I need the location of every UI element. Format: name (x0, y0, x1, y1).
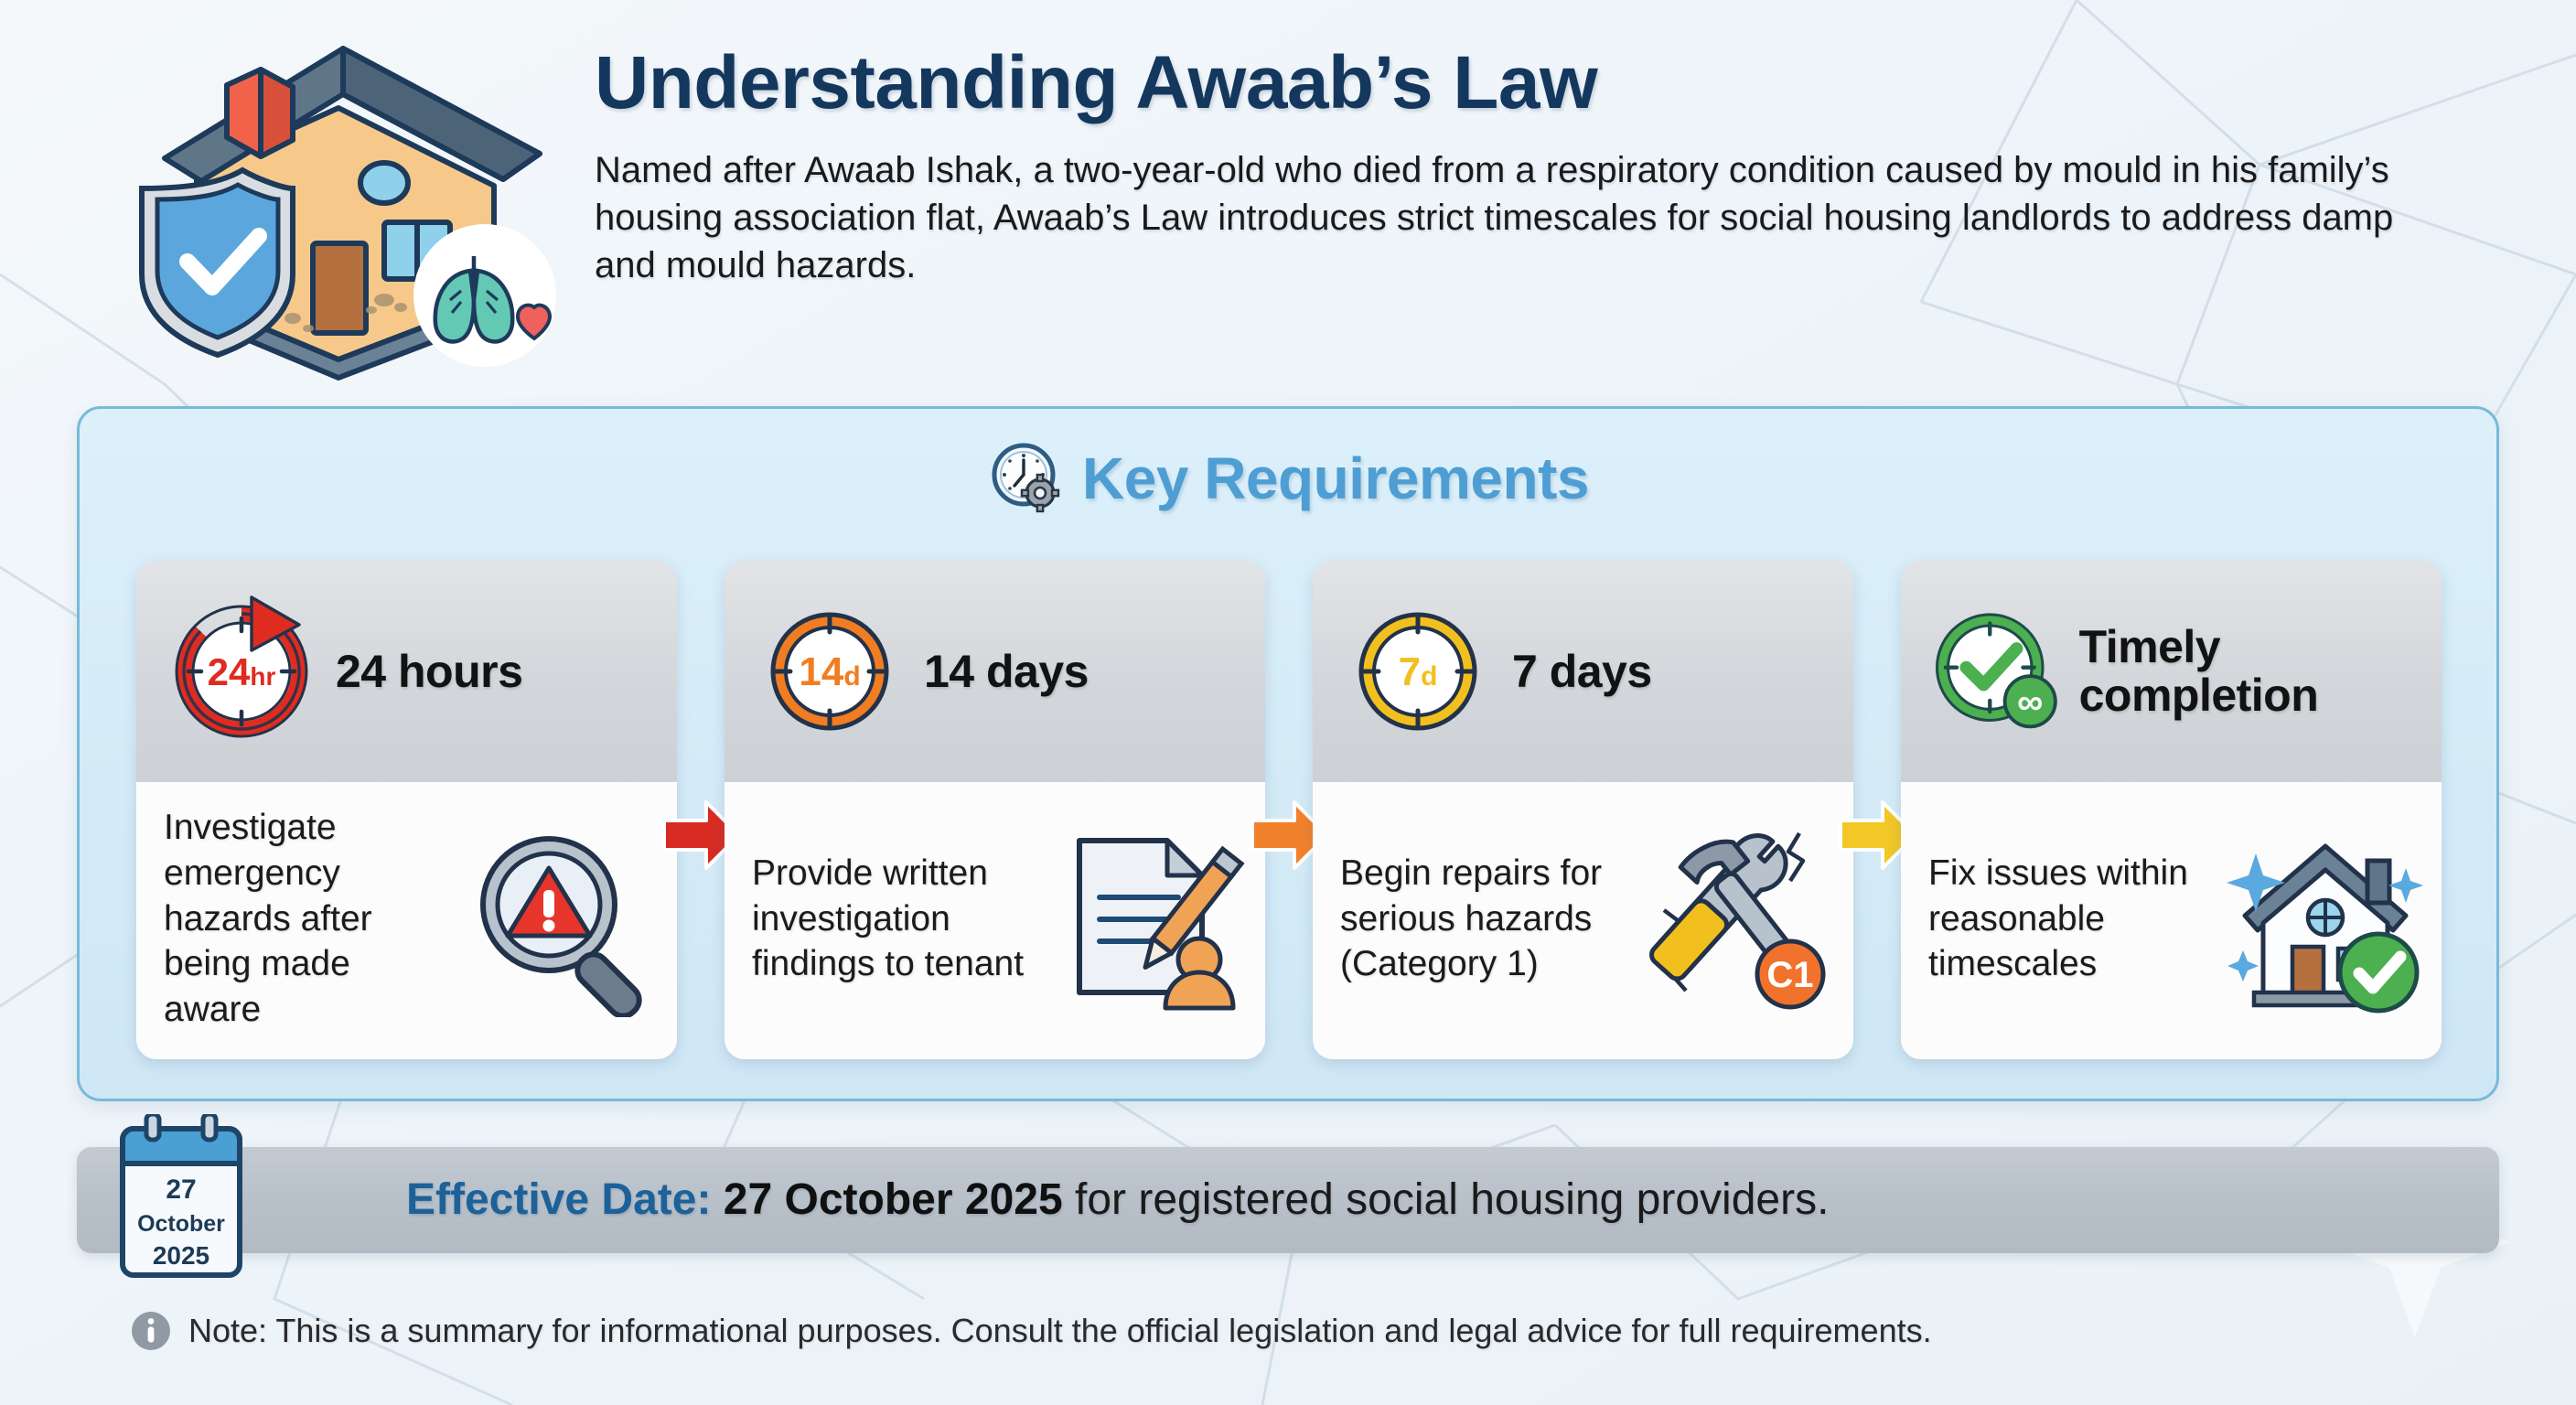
requirement-card-14-days[interactable]: 14d 14 days Provide written investigatio… (724, 561, 1265, 1059)
clock-gear-icon (987, 438, 1068, 519)
info-icon (130, 1310, 172, 1352)
hero-illustration (110, 26, 585, 382)
lungs-heart-icon (413, 224, 556, 367)
house-sparkle-check-icon (2227, 820, 2423, 1017)
footer-note-text: Note: This is a summary for informationa… (188, 1312, 1932, 1350)
card-header: 14d 14 days (724, 561, 1265, 782)
hero-subtitle: Named after Awaab Ishak, a two-year-old … (595, 146, 2415, 289)
page-title: Understanding Awaab’s Law (595, 44, 2415, 123)
card-title: 24 hours (336, 648, 522, 696)
infographic-page: Understanding Awaab’s Law Named after Aw… (0, 0, 2576, 1405)
card-gap-1 (677, 561, 724, 1059)
clock-14d-icon: 14d (752, 594, 907, 749)
c1-badge-label: C1 (1766, 955, 1813, 995)
card-gap-2 (1265, 561, 1313, 1059)
hero-text-block: Understanding Awaab’s Law Named after Aw… (595, 44, 2415, 289)
effective-date-bar: Effective Date: 27 October 2025 for regi… (77, 1147, 2499, 1253)
panel-heading-label: Key Requirements (1082, 445, 1589, 512)
card-header: 7d 7 days (1313, 561, 1853, 782)
card-body: Fix issues within reasonable timescales (1901, 782, 2442, 1059)
card-header: 24hr 24 hours (136, 561, 677, 782)
requirement-card-7-days[interactable]: 7d 7 days Begin repairs for serious haza… (1313, 561, 1853, 1059)
panel-heading-row: Key Requirements (80, 438, 2496, 519)
clock-arrow-24hr-icon: 24hr (164, 594, 319, 749)
effective-date-label: Effective Date: (406, 1175, 711, 1224)
card-body: Provide written investigation findings t… (724, 782, 1265, 1059)
calendar-day: 27 (166, 1174, 196, 1205)
card-body: Investigate emergency hazards after bein… (136, 782, 677, 1059)
card-header: ∞ Timely completion (1901, 561, 2442, 782)
card-body: Begin repairs for serious hazards (Categ… (1313, 782, 1853, 1059)
effective-date-text: Effective Date: 27 October 2025 for regi… (406, 1178, 1829, 1222)
card-body-text: Investigate emergency hazards after bein… (164, 805, 456, 1034)
calendar-icon: 27 October 2025 (117, 1114, 245, 1281)
infinity-symbol: ∞ (2017, 682, 2043, 723)
card-title: Timely completion (2079, 623, 2418, 720)
footer-note: Note: This is a summary for informationa… (130, 1310, 1932, 1352)
calendar-month: October (137, 1211, 225, 1237)
requirement-card-24-hours[interactable]: 24hr 24 hours Investigate emergency haza… (136, 561, 677, 1059)
card-title: 14 days (924, 648, 1089, 696)
card-title: 7 days (1512, 648, 1652, 696)
card-body-text: Fix issues within reasonable timescales (1928, 851, 2221, 988)
shield-check-icon (142, 170, 293, 355)
card-gap-3 (1853, 561, 1901, 1059)
clock-check-infinity-icon: ∞ (1928, 594, 2063, 749)
hero-section: Understanding Awaab’s Law Named after Aw… (0, 0, 2576, 384)
clock-7d-icon: 7d (1340, 594, 1496, 749)
card-body-text: Provide written investigation findings t… (752, 851, 1045, 988)
c1-badge: C1 (1757, 941, 1823, 1007)
document-pencil-tenant-icon (1050, 820, 1247, 1017)
card-body-text: Begin repairs for serious hazards (Categ… (1340, 851, 1633, 988)
wrench-hammer-c1-icon: C1 (1638, 820, 1835, 1017)
effective-date-value: 27 October 2025 (711, 1175, 1062, 1224)
infinity-badge: ∞ (2005, 676, 2055, 726)
effective-date-tail: for registered social housing providers. (1063, 1175, 1830, 1224)
requirement-card-timely-completion[interactable]: ∞ Timely completion Fix issues within re… (1901, 561, 2442, 1059)
calendar-year: 2025 (153, 1241, 209, 1270)
magnifier-warning-icon (462, 820, 659, 1017)
requirements-card-row: 24hr 24 hours Investigate emergency haza… (136, 561, 2442, 1059)
key-requirements-panel: Key Requirements (77, 406, 2499, 1101)
